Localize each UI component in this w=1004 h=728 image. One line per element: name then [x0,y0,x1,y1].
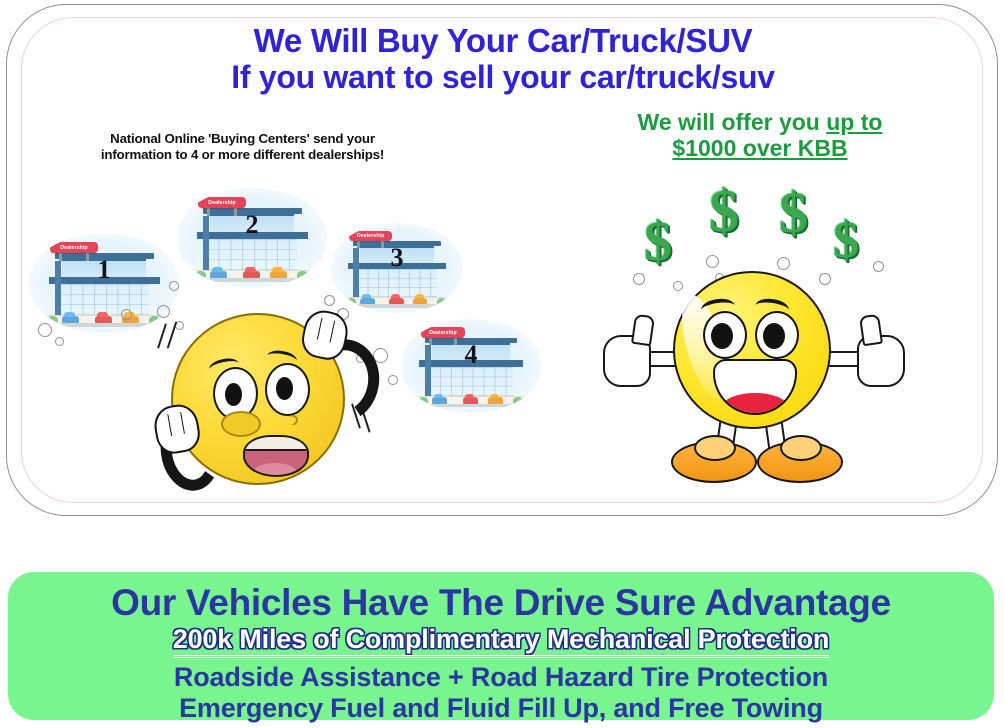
dealership-road [44,323,164,327]
emoji-mouth-smile [713,359,797,415]
dollar-sign-2: $ [709,177,739,246]
thought-bubble [169,281,179,291]
motion-line [167,321,178,348]
dealership-showroom-glass [429,367,513,396]
dealership-car [432,397,447,404]
dealership-car [389,298,404,304]
dealership-thumb-3: Dealership 3 [331,223,463,313]
thought-bubble [121,309,132,320]
dealership-sign: Dealership [50,242,98,253]
dealership-car [62,316,79,323]
emoji-pupil-left [225,383,242,406]
dealership-number: 1 [29,255,179,285]
emoji-thumb-right [859,314,883,346]
dealership-showroom-glass [59,284,149,315]
banner-subheadline: 200k Miles of Complimentary Mechanical P… [8,624,994,654]
offer-line-2: $1000 over KBB [590,135,930,161]
dealership-car [488,397,503,404]
dealership-car [95,316,112,323]
dealership-bush [347,298,356,305]
dealership-car [243,271,260,278]
offer-upto: up to [826,109,882,135]
emoji-teeth [243,435,309,451]
advantage-banner: Our Vehicles Have The Drive Sure Advanta… [8,572,994,720]
dealership-sign: Dealership [421,327,466,337]
emoji-tongue [723,393,787,415]
banner-benefits: Roadside Assistance + Road Hazard Tire P… [8,662,994,724]
headline-line-1: We Will Buy Your Car/Truck/SUV [7,23,999,59]
banner-benefit-line-2: Emergency Fuel and Fluid Fill Up, and Fr… [8,693,994,724]
dealership-bush [47,316,58,324]
dealership-bush [437,298,446,305]
dealership-road [415,404,527,408]
dealership-showroom-glass [357,269,436,297]
emoji-thumb-left [631,314,655,346]
emoji-shoe-right [757,441,843,483]
dealership-car [413,298,428,304]
dealership-bush [418,397,428,405]
flyer-canvas: We Will Buy Your Car/Truck/SUV If you wa… [0,0,1004,728]
confused-emoji [155,305,380,485]
dollar-sign-4: $ [833,211,859,270]
offer-amount: $1000 over KBB [672,135,847,161]
dealership-thumb-2: Dealership 2 [177,188,327,288]
dealership-number: 4 [401,340,541,370]
emoji-mouth-worried [243,435,309,477]
dealership-number: 3 [331,243,463,273]
emoji-shoe-left [671,441,757,483]
caption-line-2: information to 4 or more different deale… [65,147,420,163]
dealership-sign: Dealership [198,197,246,208]
banner-subheadline-text: 200k Miles of Complimentary Mechanical P… [173,624,829,658]
dealership-thumb-4: Dealership 4 [401,319,541,413]
banner-benefit-line-1: Roadside Assistance + Road Hazard Tire P… [8,662,994,693]
motion-line [157,323,167,348]
emoji-pupil-right [276,377,293,400]
headline-line-2: If you want to sell your car/truck/suv [7,59,999,95]
thought-bubble [388,375,398,385]
dealership-number: 2 [177,210,327,240]
dealership-car [360,298,375,304]
dollar-sign-1: $ [644,210,672,274]
offer-text: We will offer you up to $1000 over KBB [590,109,930,161]
banner-headline: Our Vehicles Have The Drive Sure Advanta… [8,582,994,623]
thought-bubble [55,337,64,346]
dealership-bush [195,271,206,279]
offer-prefix: We will offer you [638,109,827,135]
dollar-sign-3: $ [779,179,808,246]
emoji-pupil-right [763,323,785,349]
caption-line-1: National Online 'Buying Centers' send yo… [65,131,420,147]
dealership-car [463,397,478,404]
dealership-showroom-glass [207,239,297,270]
thought-bubble [38,323,52,337]
emoji-face [673,271,831,429]
buying-centers-caption: National Online 'Buying Centers' send yo… [65,131,420,163]
dealership-bush [513,397,523,405]
dealership-bush [297,271,308,279]
emoji-nose [221,411,261,437]
emoji-tongue [253,463,297,477]
dealership-sign: Dealership [349,231,391,241]
dealership-road [192,278,312,282]
emoji-pupil-left [711,323,733,349]
offer-line-1: We will offer you up to [590,109,930,135]
page-title: We Will Buy Your Car/Truck/SUV If you wa… [7,23,999,95]
dealership-car [270,271,287,278]
promo-card: We Will Buy Your Car/Truck/SUV If you wa… [6,4,998,516]
happy-emoji [605,267,895,483]
dealership-car [210,271,227,278]
